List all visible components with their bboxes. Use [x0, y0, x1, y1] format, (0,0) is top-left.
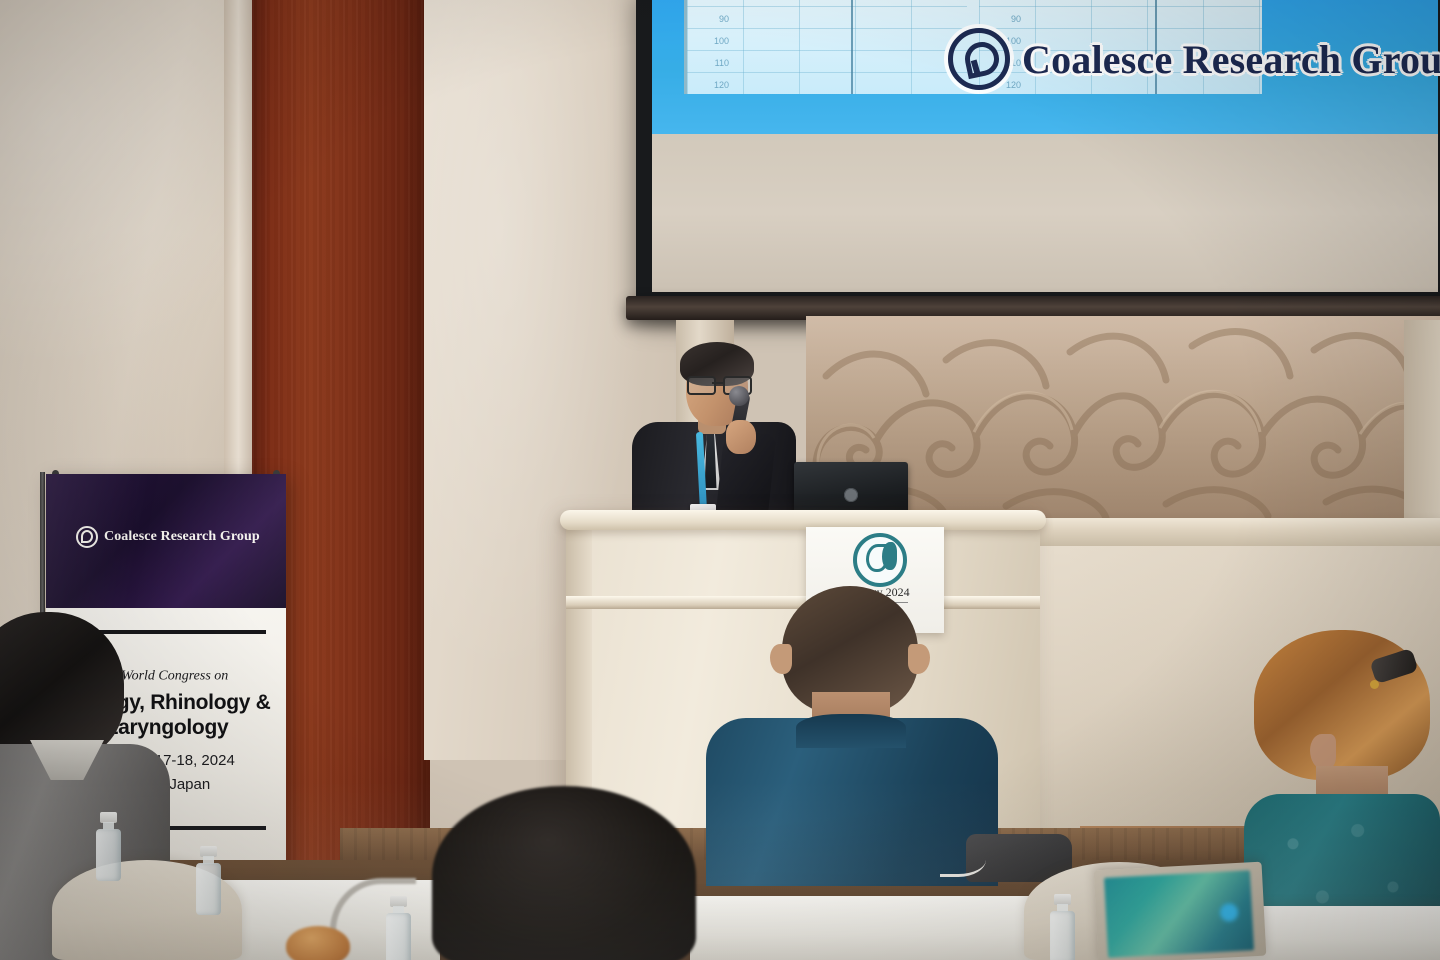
- audiogram-ticks-left: 80 90 100 110 120: [687, 0, 729, 96]
- microphone-head: [729, 386, 749, 406]
- attendee-foreground: [432, 786, 696, 960]
- bottle-body: [96, 829, 121, 881]
- glasses-bridge: [712, 382, 724, 384]
- tick-label: 90: [687, 8, 729, 30]
- banner-brand-lockup: Coalesce Research Group: [76, 526, 260, 548]
- coalesce-logo-icon: [76, 526, 98, 548]
- audiogram-left-ear: 80 90 100 110 120: [687, 0, 967, 94]
- pastry-on-table: [286, 926, 350, 960]
- attendee-ear-right: [908, 644, 930, 674]
- conference-photo: 80 90 100 110 120 80 90 100 110 120 Coal…: [0, 0, 1440, 960]
- ear-face-profile-logo-icon: [853, 533, 907, 587]
- audiogram-axis-left: [851, 0, 853, 94]
- attendee-ear-left: [770, 644, 792, 674]
- podium-top-surface: [560, 510, 1046, 530]
- coalesce-brand-name: Coalesce Research Group: [1022, 36, 1440, 83]
- attendee-laptop: [1094, 862, 1267, 960]
- tick-label: 110: [687, 52, 729, 74]
- coalesce-brand-overlay: Coalesce Research Group: [948, 28, 1418, 90]
- tick-label: 120: [687, 74, 729, 96]
- projection-screen-blank-area: [652, 134, 1438, 292]
- audiogram-grid-left: [687, 0, 967, 94]
- attendee-ear: [1310, 734, 1336, 770]
- attendee-hair: [0, 612, 124, 762]
- tick-label: 80: [687, 0, 729, 8]
- tick-label: 100: [687, 30, 729, 52]
- bottle-body: [196, 863, 221, 915]
- coalesce-logo-icon: [948, 28, 1010, 90]
- bottle-body: [1050, 911, 1075, 960]
- tick-label: 90: [979, 8, 1021, 30]
- hair-clip-accent: [1370, 680, 1379, 689]
- banner-brand-name: Coalesce Research Group: [104, 529, 260, 545]
- banner-header-panel: Coalesce Research Group: [46, 474, 286, 608]
- speaker-hand: [726, 420, 756, 454]
- dell-laptop-icon: [844, 488, 858, 502]
- lens-left: [687, 376, 716, 395]
- tick-label: 80: [979, 0, 1021, 8]
- attendee-collar: [796, 714, 906, 748]
- wall-pillar-right: [1404, 320, 1440, 550]
- presenting-speaker: [628, 336, 804, 522]
